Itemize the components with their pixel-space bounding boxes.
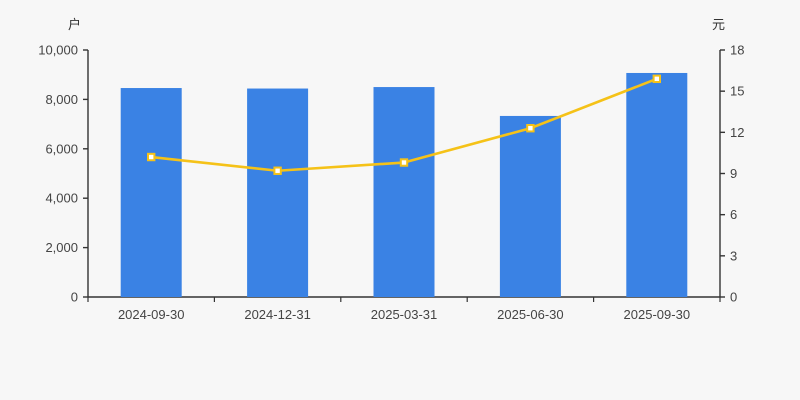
right-axis: 0369121518 xyxy=(720,43,744,305)
bar-data-point xyxy=(500,116,561,297)
bar-series xyxy=(121,73,688,297)
right-axis-tick-label: 0 xyxy=(730,290,737,305)
right-axis-tick-label: 18 xyxy=(730,43,744,58)
line-data-point-marker xyxy=(274,168,280,174)
left-axis: 02,0004,0006,0008,00010,000 xyxy=(38,43,88,305)
right-axis-tick-label: 3 xyxy=(730,248,737,263)
left-axis-tick-label: 8,000 xyxy=(45,92,78,107)
right-axis-tick-label: 15 xyxy=(730,84,744,99)
x-axis-tick-label: 2025-06-30 xyxy=(497,307,564,322)
x-axis-tick-label: 2024-09-30 xyxy=(118,307,185,322)
left-axis-tick-label: 0 xyxy=(71,290,78,305)
chart-container: 户 元 02,0004,0006,0008,00010,000 03691215… xyxy=(0,0,800,400)
left-axis-tick-label: 2,000 xyxy=(45,240,78,255)
x-axis-tick-label: 2025-03-31 xyxy=(371,307,438,322)
left-axis-tick-label: 10,000 xyxy=(38,43,78,58)
bar-data-point xyxy=(374,87,435,297)
bar-data-point xyxy=(121,88,182,297)
line-data-point-marker xyxy=(401,159,407,165)
line-data-point-marker xyxy=(148,154,154,160)
x-axis: 2024-09-302024-12-312025-03-312025-06-30… xyxy=(88,297,720,322)
line-data-point-marker xyxy=(527,125,533,131)
x-axis-tick-label: 2024-12-31 xyxy=(244,307,311,322)
right-axis-tick-label: 6 xyxy=(730,207,737,222)
right-axis-tick-label: 9 xyxy=(730,166,737,181)
left-axis-tick-label: 4,000 xyxy=(45,191,78,206)
chart-plot-area: 02,0004,0006,0008,00010,000 0369121518 2… xyxy=(0,0,800,400)
line-data-point-marker xyxy=(654,76,660,82)
bar-data-point xyxy=(626,73,687,297)
x-axis-tick-label: 2025-09-30 xyxy=(624,307,691,322)
bar-data-point xyxy=(247,89,308,297)
left-axis-tick-label: 6,000 xyxy=(45,141,78,156)
right-axis-tick-label: 12 xyxy=(730,125,744,140)
